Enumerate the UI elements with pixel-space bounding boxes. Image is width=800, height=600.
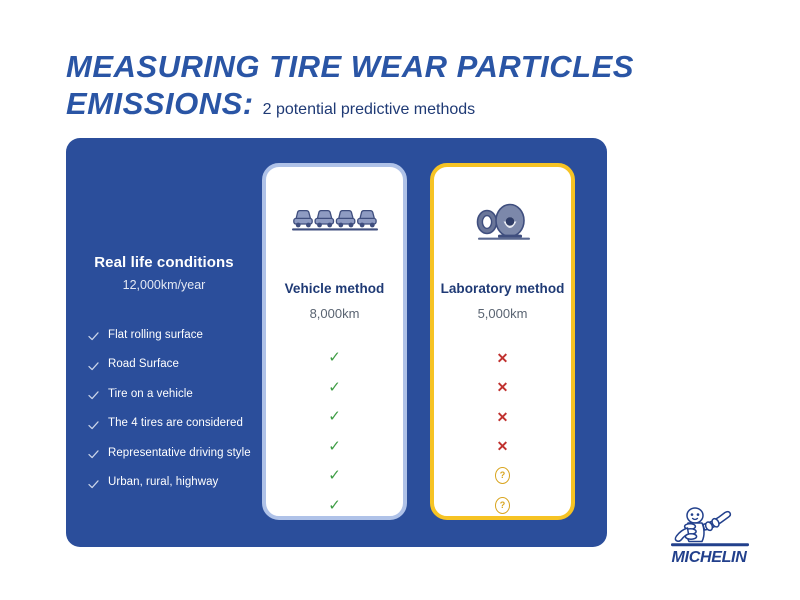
condition-row: Flat rolling surface bbox=[88, 320, 268, 350]
check-icon bbox=[88, 418, 99, 429]
mark-row: ✕ bbox=[434, 432, 571, 462]
marks-column-laboratory: ✕✕✕✕?? bbox=[434, 343, 571, 520]
check-mark-icon: ✓ bbox=[328, 409, 341, 424]
condition-row: Tire on a vehicle bbox=[88, 379, 268, 409]
mark-row: ✓ bbox=[266, 402, 403, 432]
title-line-2: EMISSIONS: bbox=[66, 85, 254, 122]
michelin-wordmark: MICHELIN bbox=[659, 549, 759, 567]
cross-mark-icon: ✕ bbox=[497, 380, 509, 394]
check-icon bbox=[88, 477, 99, 488]
title-line-1: MEASURING TIRE WEAR PARTICLES bbox=[66, 48, 726, 85]
michelin-man-icon bbox=[659, 506, 759, 550]
conditions-list: Flat rolling surfaceRoad SurfaceTire on … bbox=[88, 320, 268, 497]
mark-row: ✕ bbox=[434, 402, 571, 432]
question-mark-icon: ? bbox=[495, 497, 510, 514]
conditions-header: Real life conditions 12,000km/year bbox=[66, 254, 262, 292]
condition-label: Road Surface bbox=[108, 358, 179, 370]
mark-row: ? bbox=[434, 491, 571, 521]
conditions-subtitle: 12,000km/year bbox=[66, 278, 262, 292]
method-card-laboratory[interactable]: Laboratory method 5,000km ✕✕✕✕?? bbox=[430, 163, 575, 520]
condition-row: Road Surface bbox=[88, 350, 268, 380]
conditions-title: Real life conditions bbox=[66, 254, 262, 271]
four-cars-icon bbox=[266, 203, 403, 237]
cross-mark-icon: ✕ bbox=[497, 410, 509, 424]
conditions-column: Real life conditions 12,000km/year Flat … bbox=[66, 138, 262, 547]
condition-row: Urban, rural, highway bbox=[88, 468, 268, 498]
comparison-panel: Real life conditions 12,000km/year Flat … bbox=[66, 138, 607, 547]
card-heading-vehicle: Vehicle method bbox=[266, 281, 403, 296]
title-line-2-row: EMISSIONS: 2 potential predictive method… bbox=[66, 85, 726, 122]
check-mark-icon: ✓ bbox=[328, 350, 341, 365]
check-icon bbox=[88, 447, 99, 458]
check-mark-icon: ✓ bbox=[328, 468, 341, 483]
condition-label: The 4 tires are considered bbox=[108, 417, 243, 429]
condition-label: Urban, rural, highway bbox=[108, 476, 218, 488]
mark-row: ✕ bbox=[434, 373, 571, 403]
michelin-logo: MICHELIN bbox=[659, 506, 759, 568]
mark-row: ✓ bbox=[266, 373, 403, 403]
card-distance-laboratory: 5,000km bbox=[434, 306, 571, 321]
cross-mark-icon: ✕ bbox=[497, 351, 509, 365]
mark-row: ✕ bbox=[434, 343, 571, 373]
page-title: MEASURING TIRE WEAR PARTICLES EMISSIONS:… bbox=[66, 48, 726, 122]
cross-mark-icon: ✕ bbox=[497, 439, 509, 453]
condition-label: Flat rolling surface bbox=[108, 329, 203, 341]
marks-column-vehicle: ✓✓✓✓✓✓ bbox=[266, 343, 403, 520]
card-heading-laboratory: Laboratory method bbox=[434, 281, 571, 296]
mark-row: ✓ bbox=[266, 461, 403, 491]
mark-row: ? bbox=[434, 461, 571, 491]
tire-drum-tester-icon bbox=[434, 203, 571, 243]
condition-row: The 4 tires are considered bbox=[88, 409, 268, 439]
check-icon bbox=[88, 359, 99, 370]
page-subtitle: 2 potential predictive methods bbox=[263, 101, 476, 119]
mark-row: ✓ bbox=[266, 343, 403, 373]
condition-label: Representative driving style bbox=[108, 447, 251, 459]
check-icon bbox=[88, 329, 99, 340]
check-icon bbox=[88, 388, 99, 399]
mark-row: ✓ bbox=[266, 491, 403, 521]
condition-label: Tire on a vehicle bbox=[108, 388, 193, 400]
check-mark-icon: ✓ bbox=[328, 498, 341, 513]
mark-row: ✓ bbox=[266, 432, 403, 462]
question-mark-icon: ? bbox=[495, 467, 510, 484]
condition-row: Representative driving style bbox=[88, 438, 268, 468]
check-mark-icon: ✓ bbox=[328, 439, 341, 454]
check-mark-icon: ✓ bbox=[328, 380, 341, 395]
card-distance-vehicle: 8,000km bbox=[266, 306, 403, 321]
method-card-vehicle[interactable]: Vehicle method 8,000km ✓✓✓✓✓✓ bbox=[262, 163, 407, 520]
